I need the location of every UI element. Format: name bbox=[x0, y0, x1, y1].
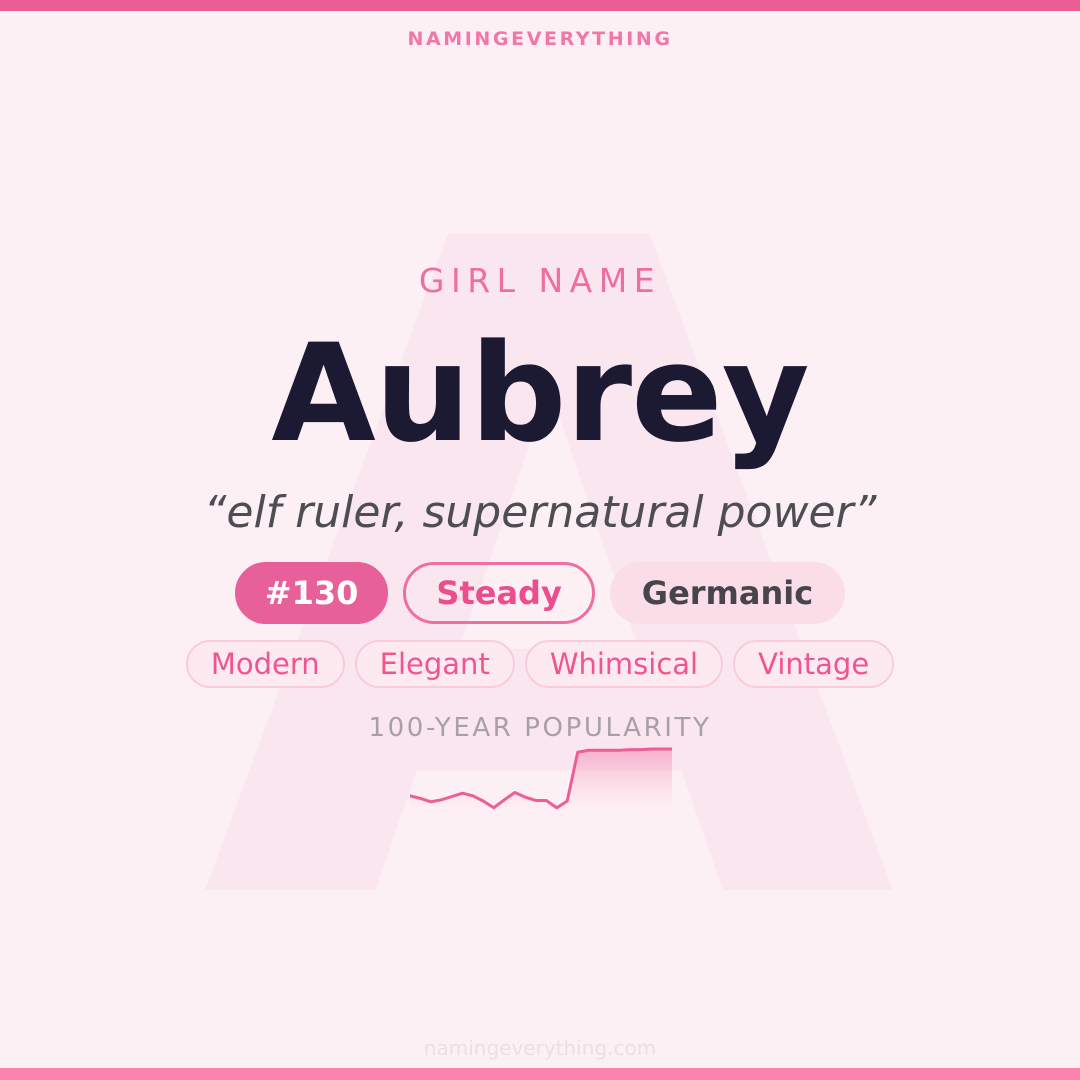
status-badge-rank: #130 bbox=[235, 562, 389, 624]
brand-wordmark: NAMINGEVERYTHING bbox=[0, 28, 1080, 50]
status-badge-origin: Germanic bbox=[610, 562, 845, 624]
badge-row: #130 Steady Germanic bbox=[0, 562, 1080, 624]
name-meaning: “elf ruler, supernatural power” bbox=[0, 487, 1080, 538]
style-tag-elegant: Elegant bbox=[355, 640, 515, 688]
name-category-label: GIRL NAME bbox=[0, 261, 1080, 300]
page-title: Aubrey bbox=[0, 318, 1080, 469]
name-card: A NAMINGEVERYTHING GIRL NAME Aubrey “elf… bbox=[0, 0, 1080, 1080]
card-content: GIRL NAME Aubrey “elf ruler, supernatura… bbox=[0, 0, 1080, 1080]
style-tag-vintage: Vintage bbox=[733, 640, 894, 688]
sparkline-area bbox=[410, 749, 672, 815]
popularity-chart-label: 100-YEAR POPULARITY bbox=[0, 713, 1080, 743]
sparkline-svg bbox=[410, 745, 672, 815]
style-tag-modern: Modern bbox=[186, 640, 345, 688]
style-tag-row: Modern Elegant Whimsical Vintage bbox=[0, 640, 1080, 688]
status-badge-trend: Steady bbox=[403, 562, 594, 624]
popularity-sparkline bbox=[410, 745, 672, 815]
style-tag-whimsical: Whimsical bbox=[525, 640, 723, 688]
